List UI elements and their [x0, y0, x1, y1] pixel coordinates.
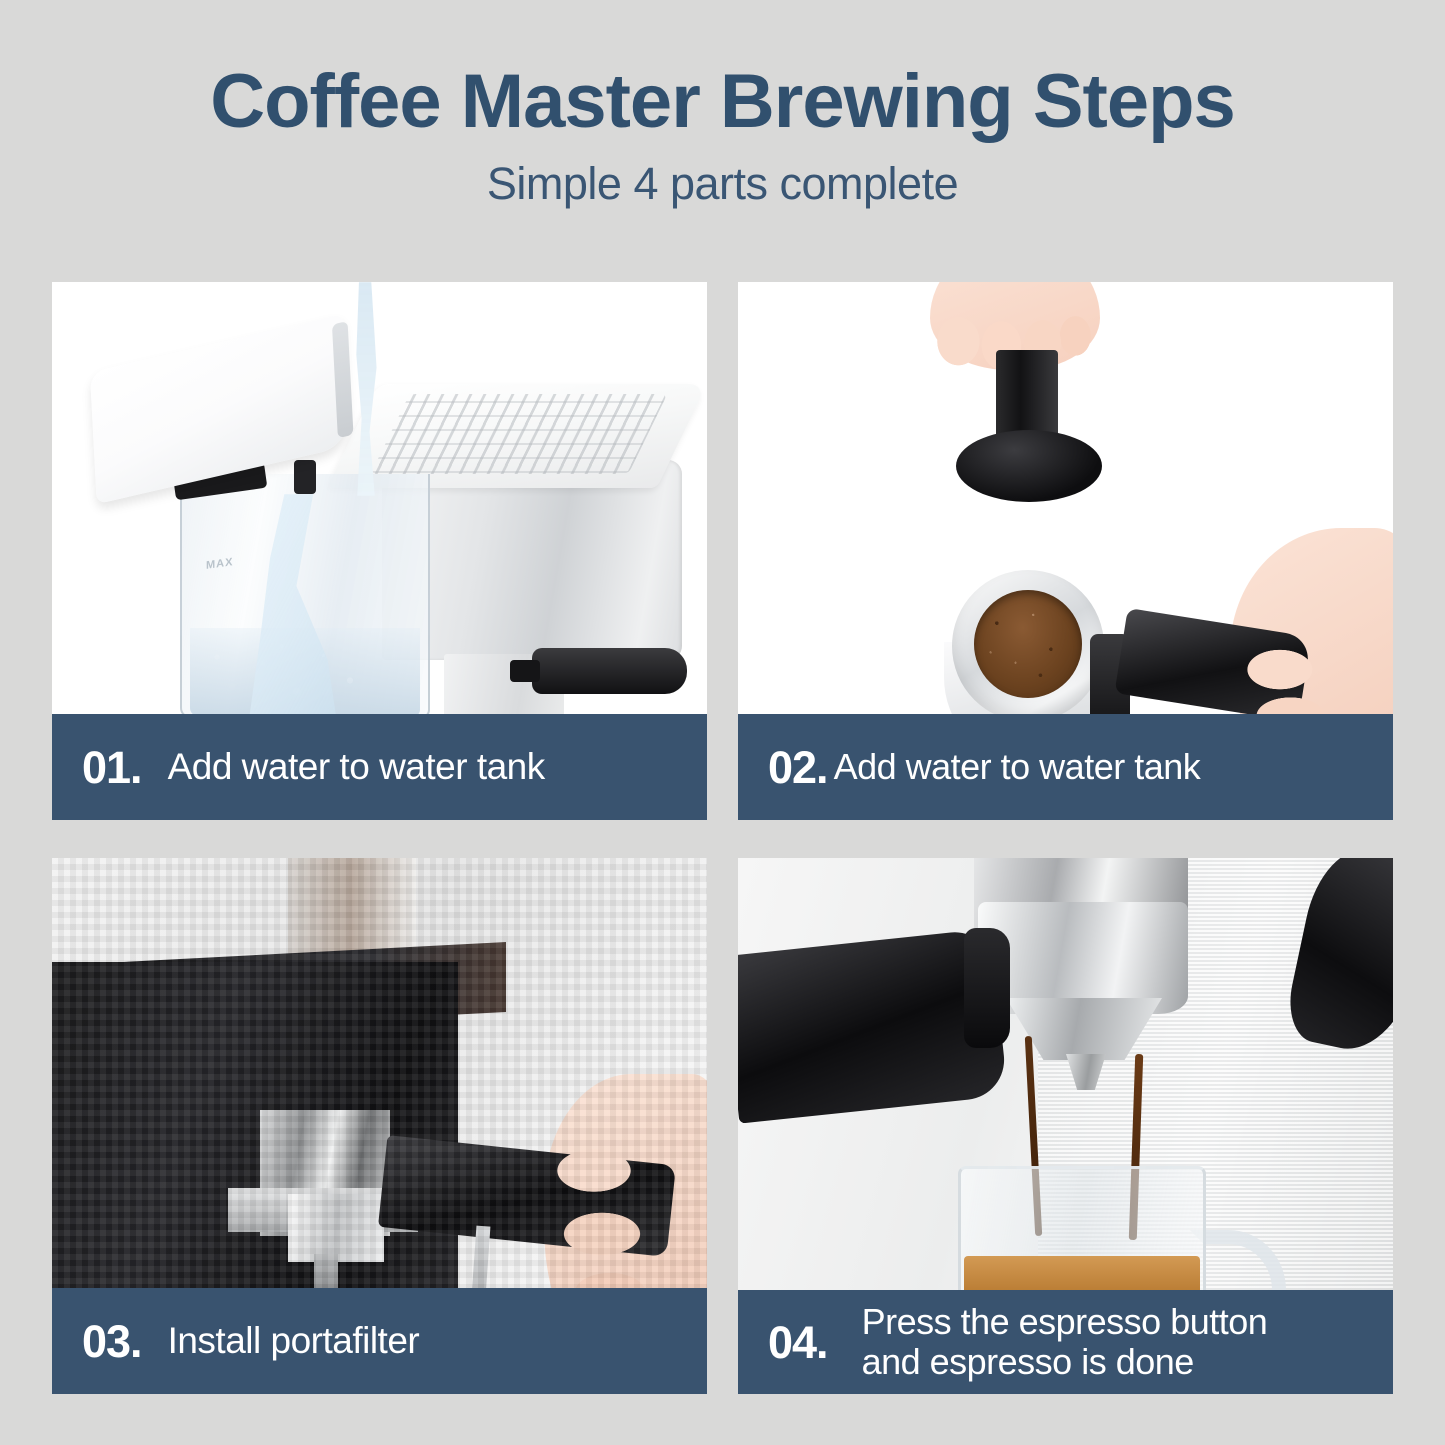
step-03-text: Install portafilter — [168, 1320, 420, 1361]
tank-hinge-right — [294, 460, 316, 494]
installing-hand-fingers — [522, 1148, 707, 1288]
step-04-text: Press the espresso button and espresso i… — [862, 1302, 1268, 1383]
portafilter-hand-fingers — [1220, 648, 1393, 714]
page-subtitle: Simple 4 parts complete — [0, 158, 1445, 210]
espresso-crema — [964, 1256, 1200, 1290]
step-card-01[interactable]: MAX 01. Add water to water tank — [52, 282, 707, 820]
header: Coffee Master Brewing Steps Simple 4 par… — [0, 0, 1445, 210]
steam-wand-tip — [964, 928, 1010, 1048]
step-01-number: 01. — [82, 745, 142, 790]
step-card-02[interactable]: 02. Add water to water tank — [738, 282, 1393, 820]
portafilter-chrome — [288, 1194, 384, 1262]
step-02-caption: 02. Add water to water tank — [738, 714, 1393, 820]
step-04-number: 04. — [768, 1320, 828, 1365]
step-card-04[interactable]: 04. Press the espresso button and espres… — [738, 858, 1393, 1394]
step-02-text: Add water to water tank — [834, 747, 1201, 787]
tamper-base — [956, 430, 1102, 502]
machine-dark-body — [52, 962, 458, 1288]
coffee-grounds-texture — [976, 592, 1080, 696]
step-02-number: 02. — [768, 745, 828, 790]
cup-warming-grille — [370, 394, 667, 474]
portafilter-spout — [314, 1254, 338, 1288]
step-02-photo — [738, 282, 1393, 714]
step-03-caption: 03. Install portafilter — [52, 1288, 707, 1394]
step-04-photo — [738, 858, 1393, 1290]
step-01-text: Add water to water tank — [168, 746, 545, 787]
steps-grid: MAX 01. Add water to water tank — [52, 282, 1393, 1394]
steam-wand — [532, 648, 687, 694]
step-04-text-line1: Press the espresso button — [862, 1301, 1268, 1342]
step-01-photo: MAX — [52, 282, 707, 714]
step-03-photo — [52, 858, 707, 1288]
page-title: Coffee Master Brewing Steps — [0, 62, 1445, 142]
tank-max-label: MAX — [206, 556, 233, 572]
step-01-caption: 01. Add water to water tank — [52, 714, 707, 820]
step-04-text-line2: and espresso is done — [862, 1341, 1194, 1382]
infographic-page: Coffee Master Brewing Steps Simple 4 par… — [0, 0, 1445, 1445]
step-card-03[interactable]: 03. Install portafilter — [52, 858, 707, 1394]
step-04-caption: 04. Press the espresso button and espres… — [738, 1290, 1393, 1394]
step-03-number: 03. — [82, 1319, 142, 1364]
